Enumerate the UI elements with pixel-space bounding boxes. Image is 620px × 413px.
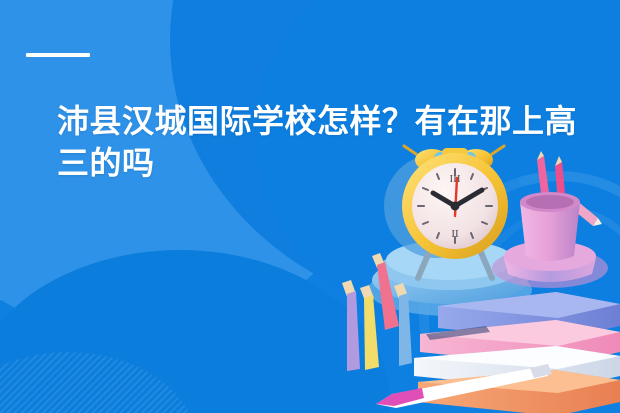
promo-banner: 沛县汉城国际学校怎样？有在那上高三的吗 <box>0 0 620 413</box>
study-supplies-illustration: III II <box>330 138 620 413</box>
pencil-cup-group <box>492 151 608 288</box>
svg-text:III: III <box>450 173 461 185</box>
alarm-clock: III II <box>402 153 508 259</box>
svg-text:II: II <box>451 228 459 240</box>
accent-rule <box>26 53 90 57</box>
